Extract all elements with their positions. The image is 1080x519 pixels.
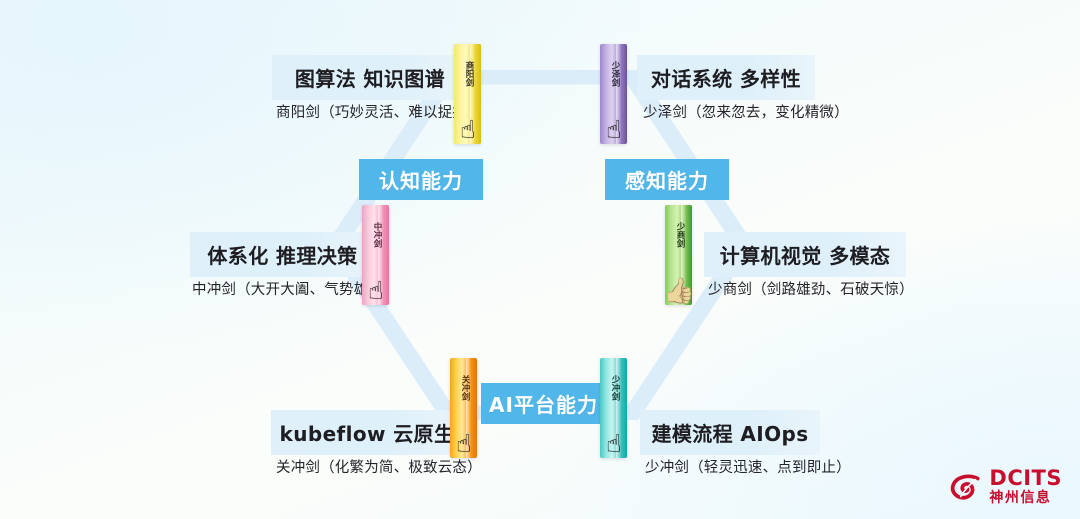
pointing-up-hand-icon: ☝ xyxy=(606,117,621,142)
node-caption-knowledge-graph: 商阳剑（巧妙灵活、难以捉摸） xyxy=(276,101,482,122)
pointing-up-hand-icon: ☝ xyxy=(460,117,475,142)
pillar-label: 商阳剑 xyxy=(462,52,473,96)
pointing-up-hand-icon: ☝ xyxy=(606,431,621,456)
capability-bar-label: 认知能力 xyxy=(379,165,463,194)
node-title-text: kubeflow 云原生 xyxy=(266,418,469,447)
pillar-shaoshang-sword: 少商剑 👍 xyxy=(665,205,692,305)
node-caption-computer-vision: 少商剑（剑路雄劲、石破天惊） xyxy=(708,278,914,299)
node-title-reasoning-decision: 体系化 推理决策 xyxy=(190,232,375,277)
thumbs-up-hand-icon: 👍 xyxy=(665,278,692,303)
pointing-up-hand-icon: ☝ xyxy=(456,431,471,456)
pillar-zhongchong-sword: 中冲剑 ☝ xyxy=(362,205,389,305)
pillar-shaoze-sword: 少泽剑 ☝ xyxy=(600,44,627,144)
node-title-dialogue-system: 对话系统 多样性 xyxy=(637,55,815,100)
dcits-swirl-icon xyxy=(949,470,983,504)
node-title-text: 图算法 知识图谱 xyxy=(281,63,459,92)
pillar-shaochong-sword: 少冲剑 ☝ xyxy=(600,358,627,458)
logo-wordmark: DCITS 神州信息 xyxy=(989,468,1062,505)
node-title-text: 体系化 推理决策 xyxy=(193,240,371,269)
node-title-text: 建模流程 AIOps xyxy=(637,418,822,447)
capability-bar-cognitive[interactable]: 认知能力 xyxy=(359,159,483,200)
node-title-text: 计算机视觉 多模态 xyxy=(706,240,905,269)
slide-canvas: 图算法 知识图谱 商阳剑（巧妙灵活、难以捉摸） 商阳剑 ☝ 少泽剑 ☝ 对话系统… xyxy=(0,0,1080,519)
pillar-label: 少商剑 xyxy=(673,213,684,257)
capability-bar-label: 感知能力 xyxy=(625,165,709,194)
logo-english: DCITS xyxy=(989,468,1062,489)
node-title-text: 对话系统 多样性 xyxy=(637,63,815,92)
capability-bar-perceptive[interactable]: 感知能力 xyxy=(605,159,729,200)
pillar-shangyang-sword: 商阳剑 ☝ xyxy=(454,44,481,144)
node-caption-aiops: 少冲剑（轻灵迅速、点到即止） xyxy=(645,456,851,477)
brand-logo: DCITS 神州信息 xyxy=(949,468,1062,505)
pillar-label: 少泽剑 xyxy=(608,52,619,96)
pillar-guanchong-sword: 关冲剑 ☝ xyxy=(450,358,477,458)
capability-bar-label: AI平台能力 xyxy=(489,389,598,418)
node-title-knowledge-graph: 图算法 知识图谱 xyxy=(272,55,468,100)
pillar-label: 关冲剑 xyxy=(458,366,469,410)
pointing-up-hand-icon: ☝ xyxy=(368,278,383,303)
node-title-cloud-native: kubeflow 云原生 xyxy=(271,410,463,455)
node-title-computer-vision: 计算机视觉 多模态 xyxy=(704,232,906,277)
node-title-aiops: 建模流程 AIOps xyxy=(640,410,820,455)
pillar-label: 少冲剑 xyxy=(608,366,619,410)
node-caption-dialogue-system: 少泽剑（忽来忽去，变化精微） xyxy=(643,101,849,122)
logo-chinese: 神州信息 xyxy=(989,491,1062,505)
capability-bar-ai-platform[interactable]: AI平台能力 xyxy=(481,383,606,424)
pillar-label: 中冲剑 xyxy=(370,213,381,257)
node-caption-cloud-native: 关冲剑（化繁为简、极致云态） xyxy=(276,456,482,477)
